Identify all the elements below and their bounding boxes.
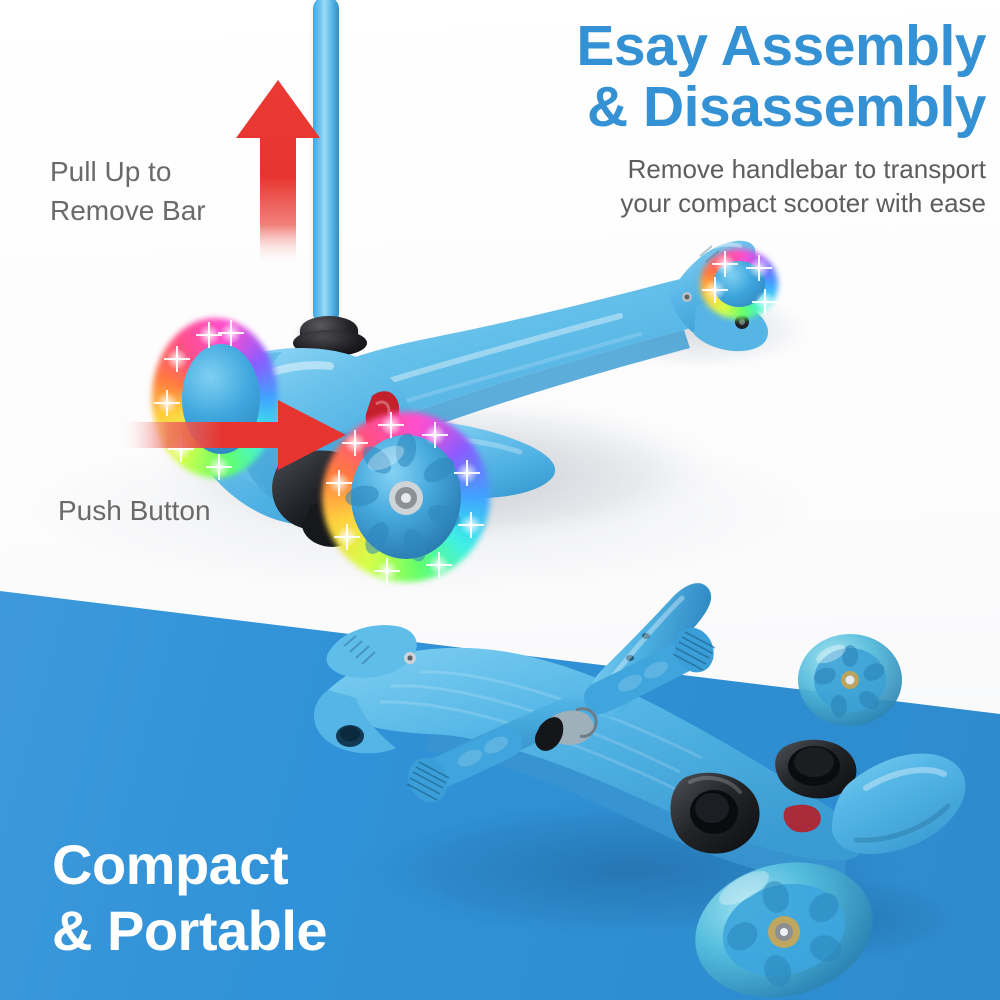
callout-pull-up: Pull Up to Remove Bar bbox=[50, 152, 280, 230]
red-right-arrow bbox=[118, 398, 348, 472]
led-sparkle bbox=[164, 346, 190, 372]
callout-pull-line-1: Pull Up to bbox=[50, 152, 280, 191]
headline: Esay Assembly & Disassembly bbox=[466, 16, 986, 138]
infographic-canvas: Esay Assembly & Disassembly Remove handl… bbox=[0, 0, 1000, 1000]
led-sparkle bbox=[326, 470, 352, 496]
callout-pull-line-2: Remove Bar bbox=[50, 191, 280, 230]
subheadline: Remove handlebar to transport your compa… bbox=[470, 152, 986, 220]
led-sparkle bbox=[218, 320, 244, 346]
bottom-title-line-2: & Portable bbox=[52, 898, 472, 964]
headline-line-2: & Disassembly bbox=[466, 77, 986, 138]
led-sparkle bbox=[378, 412, 404, 438]
bottom-title: Compact & Portable bbox=[52, 832, 472, 964]
subheadline-line-1: Remove handlebar to transport bbox=[470, 152, 986, 186]
headline-line-1: Esay Assembly bbox=[466, 16, 986, 77]
bottom-right-wheel bbox=[688, 852, 880, 1000]
led-sparkle bbox=[454, 460, 480, 486]
subheadline-line-2: your compact scooter with ease bbox=[470, 186, 986, 220]
led-sparkle bbox=[458, 512, 484, 538]
bottom-left-wheel bbox=[795, 630, 905, 730]
bottom-title-line-1: Compact bbox=[52, 832, 472, 898]
callout-push-button: Push Button bbox=[58, 495, 211, 527]
bottom-front-fork bbox=[660, 760, 790, 870]
led-sparkle bbox=[422, 422, 448, 448]
